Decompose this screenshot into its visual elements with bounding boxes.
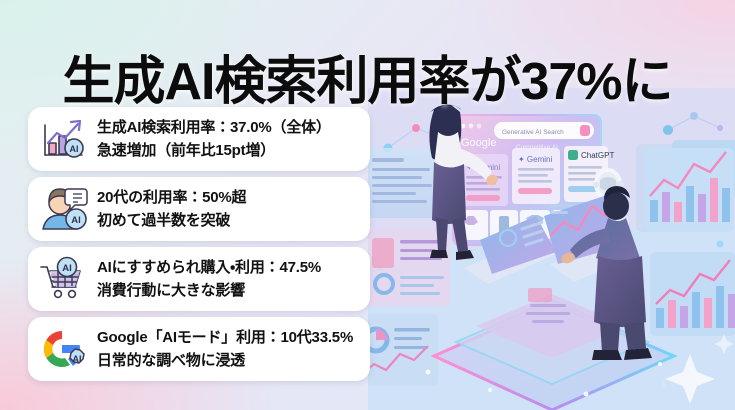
stat-cards-list: AI 生成AI検索利用率：37.0%（全体） 急速増加（前年比15pt増） [28, 107, 370, 381]
google-ai-icon: AI [38, 325, 88, 373]
person-chat-ai-icon: AI [38, 185, 88, 233]
stat-card[interactable]: AI 20代の利用率：50%超 初めて過半数を突破 [28, 177, 370, 241]
shopping-cart-ai-icon: AI [38, 255, 88, 303]
stat-card-line2: 初めて過半数を突破 [97, 210, 246, 231]
stat-card-text: 20代の利用率：50%超 初めて過半数を突破 [97, 187, 246, 231]
svg-text:✦ Gemini: ✦ Gemini [518, 155, 552, 164]
page-title-container: 生成AI検索利用率が37%に [0, 16, 735, 148]
stat-card-text: Google「AIモード」利用：10代33.5% 日常的な調べ物に浸透 [97, 327, 353, 371]
stat-card[interactable]: AI Google「AIモード」利用：10代33.5% 日常的な調べ物に浸透 [28, 317, 370, 381]
infographic-canvas: 生成AI検索利用率が37%に [0, 0, 735, 410]
stat-card-line2: 日常的な調べ物に浸透 [97, 350, 353, 371]
stat-card-line2: 消費行動に大きな影響 [97, 280, 321, 301]
stat-card-line1: Google「AIモード」利用：10代33.5% [97, 327, 353, 348]
stat-card-text: AIにすすめられ購入・利用：47.5% 消費行動に大きな影響 [97, 257, 321, 301]
stat-card-line1: AIにすすめられ購入・利用：47.5% [97, 257, 321, 278]
bar-chart-panel [636, 144, 734, 232]
stat-card[interactable]: AI AIにすすめられ購入・利用：47.5% 消費行動に大きな影響 [28, 247, 370, 311]
result-card-gemini-2: ✦ Gemini [512, 148, 560, 204]
ai-badge-label: AI [71, 215, 81, 226]
donut-chart-panel [368, 314, 438, 386]
stat-card-line1: 20代の利用率：50%超 [97, 187, 246, 208]
ai-badge-label: AI [62, 263, 72, 274]
line-chart-panel [650, 252, 735, 336]
page-title: 生成AI検索利用率が37%に [62, 51, 672, 113]
ai-badge-label: AI [73, 354, 82, 364]
svg-text:ChatGPT: ChatGPT [581, 151, 614, 160]
